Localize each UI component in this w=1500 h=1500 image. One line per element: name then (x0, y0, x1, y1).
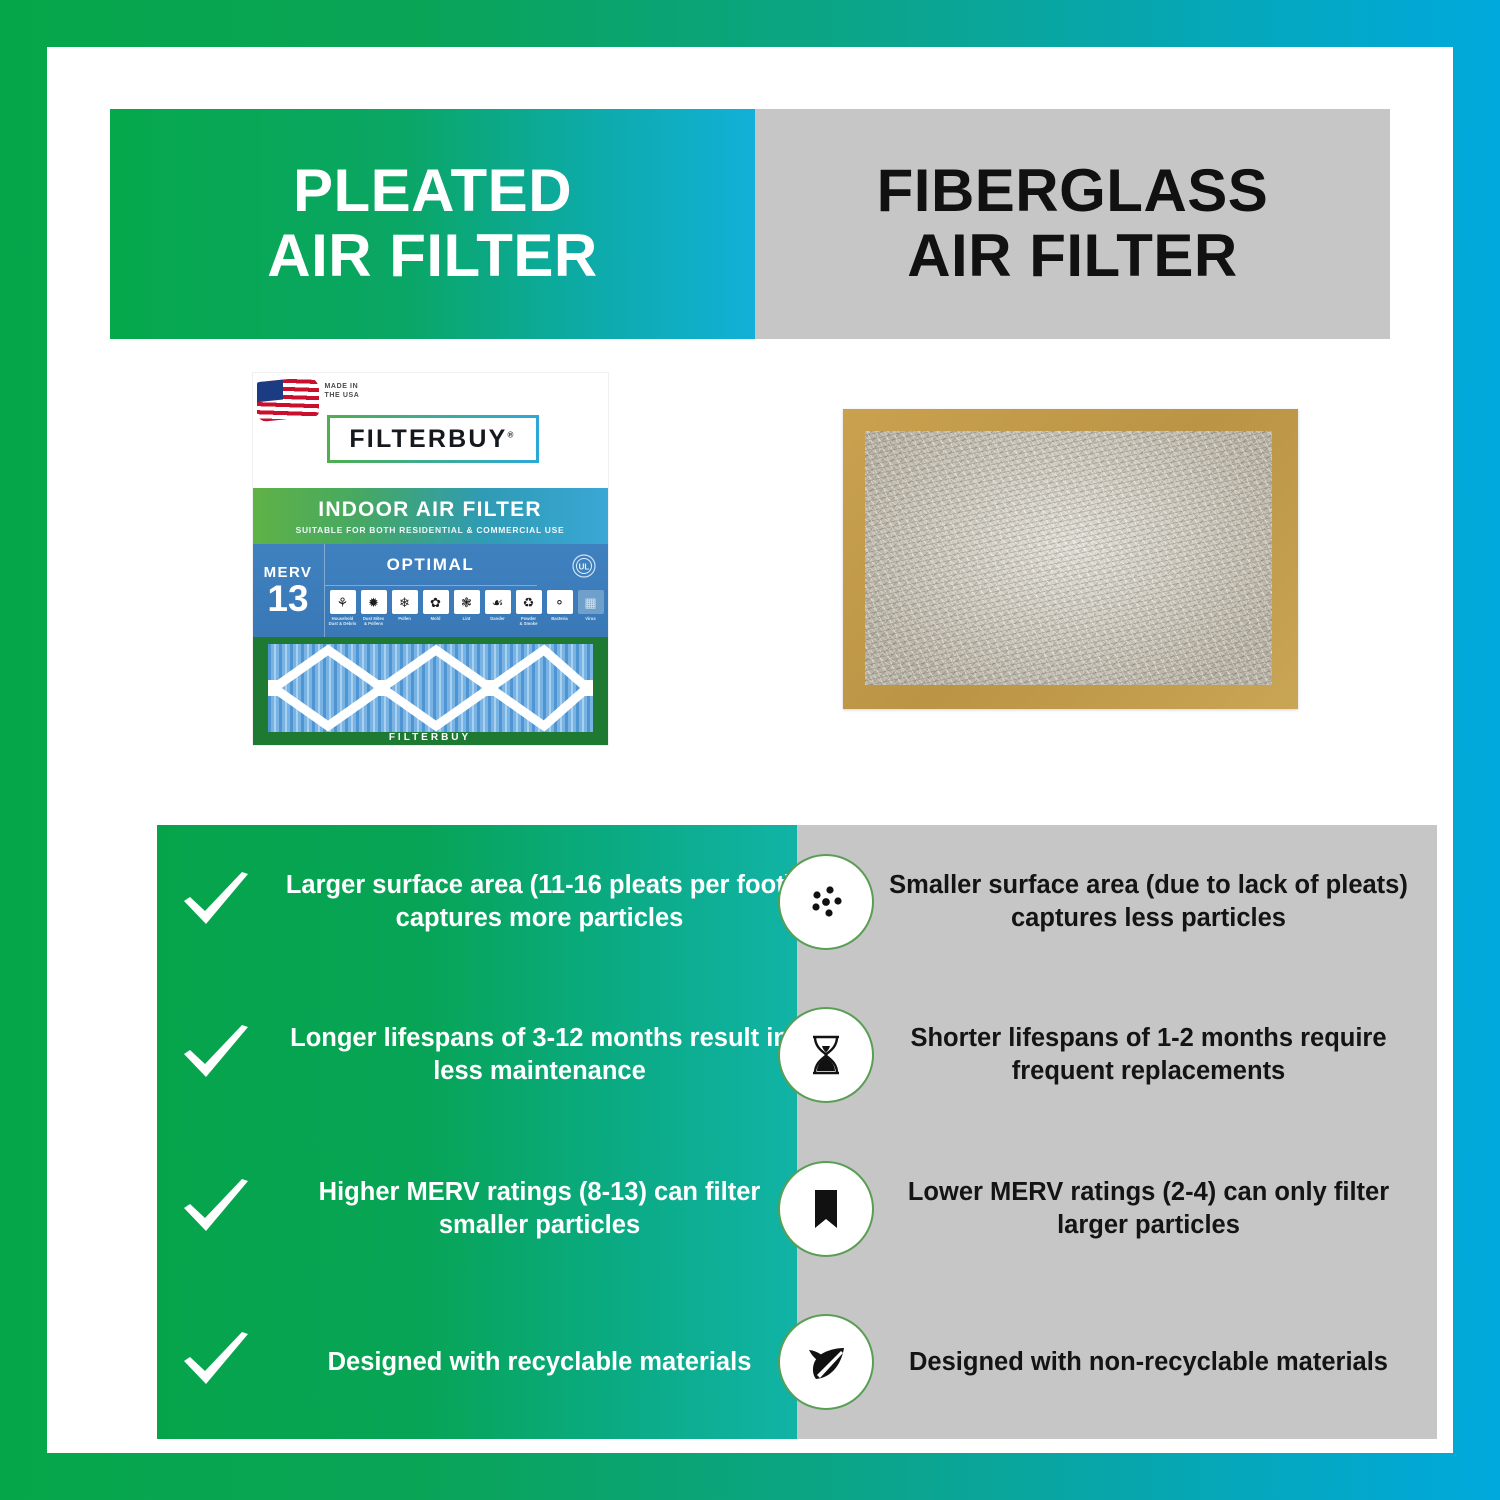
infographic-frame: PLEATED AIR FILTER FIBERGLASS AIR FILTER… (47, 47, 1453, 1453)
pleated-benefit-text: Higher MERV ratings (8-13) can filter sm… (275, 1176, 826, 1242)
box-band-subtitle: SUITABLE FOR BOTH RESIDENTIAL & COMMERCI… (296, 525, 565, 535)
checkmark-icon (157, 1022, 275, 1088)
box-footer-brand: FILTERBUY (253, 732, 608, 743)
comparison-row: Designed with recyclable materialsDesign… (157, 1286, 1437, 1440)
comparison-rows: Larger surface area (11-16 pleats per fo… (157, 825, 1437, 1439)
header-fiberglass: FIBERGLASS AIR FILTER (755, 109, 1390, 339)
hourglass-icon (778, 1007, 874, 1103)
checkmark-icon (157, 1176, 275, 1242)
filterbuy-logo-frame: FILTERBUY® (327, 415, 539, 463)
pollen-icon-caption: Pollen (398, 616, 411, 621)
mold-icon-glyph: ✿ (423, 590, 449, 614)
household-dust-debris-icon-glyph: ⚘ (330, 590, 356, 614)
dust-mites-pollens-icon-glyph: ✹ (361, 590, 387, 614)
product-image-row: MADE IN THE USA FILTERBUY® INDOOR AIR FI… (110, 339, 1390, 779)
dander-icon: ☙Dander (484, 590, 512, 621)
dander-icon-glyph: ☙ (485, 590, 511, 614)
pollen-icon-glyph: ❄ (392, 590, 418, 614)
pleated-filter-box-image: MADE IN THE USA FILTERBUY® INDOOR AIR FI… (253, 373, 608, 745)
made-in-usa-label: MADE IN THE USA (325, 383, 360, 401)
usa-flag-icon (257, 376, 319, 423)
fiberglass-filter-image (843, 409, 1298, 709)
ul-certification-icon: UL (564, 549, 604, 585)
comparison-section: Larger surface area (11-16 pleats per fo… (157, 825, 1437, 1439)
filterbuy-logo-text: FILTERBUY® (349, 425, 515, 454)
fiberglass-drawback-text: Lower MERV ratings (2-4) can only filter… (826, 1176, 1437, 1242)
fiberglass-product-cell (750, 339, 1390, 779)
header-pleated-title: PLEATED AIR FILTER (267, 159, 598, 289)
box-band-title: INDOOR AIR FILTER (318, 498, 541, 522)
powder-smoke-icon-glyph: ♻ (516, 590, 542, 614)
household-dust-debris-icon-caption: Household Dust & Debris (329, 616, 357, 627)
dust-mites-pollens-icon: ✹Dust Mites & Pollens (360, 590, 388, 627)
dander-icon-caption: Dander (490, 616, 504, 621)
lint-icon: ❃Lint (453, 590, 481, 621)
bacteria-icon-caption: Bacteria (551, 616, 568, 621)
lint-icon-caption: Lint (463, 616, 471, 621)
merv-badge: MERV 13 (253, 544, 325, 637)
leaf-icon (778, 1314, 874, 1410)
particles-icon (778, 854, 874, 950)
bacteria-icon-glyph: ⚬ (547, 590, 573, 614)
powder-smoke-icon-caption: Powder & Smoke (520, 616, 538, 627)
box-product-band: INDOOR AIR FILTER SUITABLE FOR BOTH RESI… (253, 488, 608, 544)
bookmark-icon (778, 1161, 874, 1257)
bacteria-icon: ⚬Bacteria (546, 590, 574, 621)
household-dust-debris-icon: ⚘Household Dust & Debris (329, 590, 357, 627)
box-feature-icon-strip: ⚘Household Dust & Debris✹Dust Mites & Po… (329, 590, 605, 634)
box-grade-label: OPTIMAL (325, 544, 537, 586)
pleat-texture (268, 644, 593, 732)
powder-smoke-icon: ♻Powder & Smoke (515, 590, 543, 627)
lint-icon-glyph: ❃ (454, 590, 480, 614)
comparison-row: Larger surface area (11-16 pleats per fo… (157, 825, 1437, 979)
header-fiberglass-title: FIBERGLASS AIR FILTER (877, 159, 1269, 289)
pleated-media-area (253, 637, 608, 745)
fiberglass-drawback-text: Shorter lifespans of 1-2 months require … (826, 1022, 1437, 1088)
fiberglass-media-texture (865, 431, 1272, 685)
virus-disabled-icon-caption: Virus (585, 616, 595, 621)
box-blue-panel: MERV 13 OPTIMAL UL ⚘Household Dust & Deb… (253, 544, 608, 637)
comparison-row: Longer lifespans of 3-12 months result i… (157, 979, 1437, 1133)
comparison-row: Higher MERV ratings (8-13) can filter sm… (157, 1132, 1437, 1286)
merv-value: 13 (267, 581, 308, 616)
pleated-benefit-text: Longer lifespans of 3-12 months result i… (275, 1022, 826, 1088)
fiberglass-drawback-text: Smaller surface area (due to lack of ple… (826, 869, 1437, 935)
pleated-benefit-text: Designed with recyclable materials (275, 1346, 826, 1379)
svg-text:UL: UL (578, 563, 589, 572)
pleated-product-cell: MADE IN THE USA FILTERBUY® INDOOR AIR FI… (110, 339, 750, 779)
fiberglass-drawback-text: Designed with non-recyclable materials (826, 1346, 1437, 1379)
fiberglass-media-shading (865, 431, 1272, 685)
virus-disabled-icon-glyph: ▦ (578, 590, 604, 614)
mold-icon-caption: Mold (431, 616, 441, 621)
header-band: PLEATED AIR FILTER FIBERGLASS AIR FILTER (110, 109, 1390, 339)
checkmark-icon (157, 869, 275, 935)
support-wire-diamond-pattern (268, 644, 593, 732)
header-pleated: PLEATED AIR FILTER (110, 109, 755, 339)
pleated-benefit-text: Larger surface area (11-16 pleats per fo… (275, 869, 826, 935)
dust-mites-pollens-icon-caption: Dust Mites & Pollens (363, 616, 384, 627)
virus-disabled-icon: ▦Virus (577, 590, 605, 621)
checkmark-icon (157, 1329, 275, 1395)
mold-icon: ✿Mold (422, 590, 450, 621)
pollen-icon: ❄Pollen (391, 590, 419, 621)
